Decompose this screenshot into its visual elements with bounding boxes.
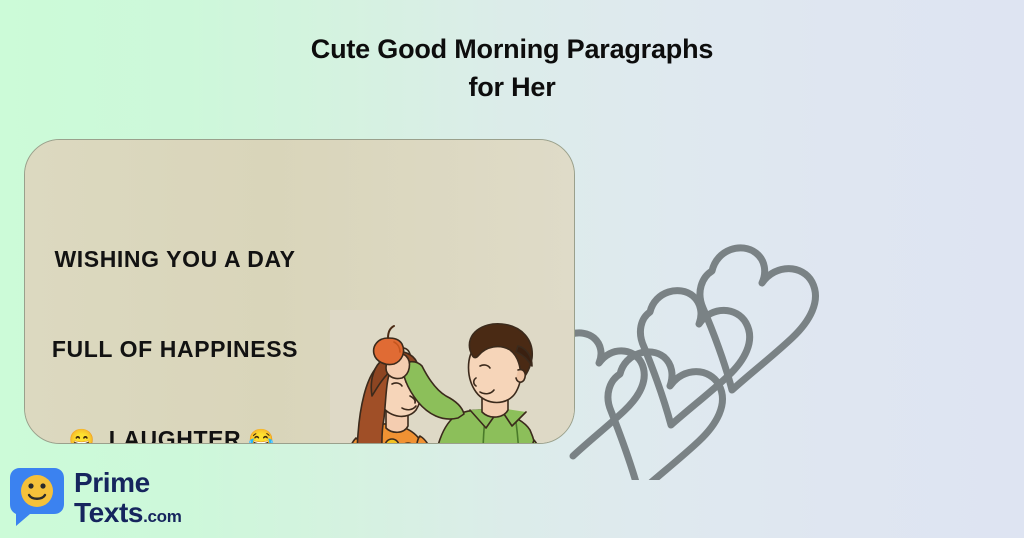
logo-word-prime: Prime — [74, 468, 182, 498]
brand-logo[interactable]: Prime Texts.com — [8, 466, 248, 532]
couple-illustration-svg — [330, 310, 575, 444]
logo-wordmark: Prime Texts.com — [74, 468, 182, 532]
quote-line-1: Wishing you a day — [54, 246, 295, 272]
logo-texts-text: Texts — [74, 497, 143, 528]
couple-illustration — [330, 310, 575, 444]
smiley-chat-bubble-icon — [8, 466, 66, 528]
logo-tld: .com — [143, 507, 181, 526]
grinning-emoji: 😄 — [69, 429, 95, 444]
logo-chat-bubble-icon — [8, 466, 66, 528]
poster-canvas: Cute Good Morning Paragraphs for Her Wis… — [0, 0, 1024, 538]
quote-bubble: Wishing you a day full of happiness 😄, l… — [24, 139, 575, 444]
quote-line-3: , laughter — [95, 426, 249, 444]
quote-text: Wishing you a day full of happiness 😄, l… — [25, 192, 325, 444]
hearts-decoration — [560, 215, 830, 480]
quote-line-2: full of happiness — [52, 336, 298, 362]
logo-word-texts: Texts.com — [74, 498, 182, 532]
hearts-icon — [560, 215, 830, 480]
quote-line-3-tail: , — [274, 426, 281, 444]
page-title: Cute Good Morning Paragraphs for Her — [0, 30, 1024, 106]
tears-of-joy-emoji: 😂 — [248, 429, 274, 444]
